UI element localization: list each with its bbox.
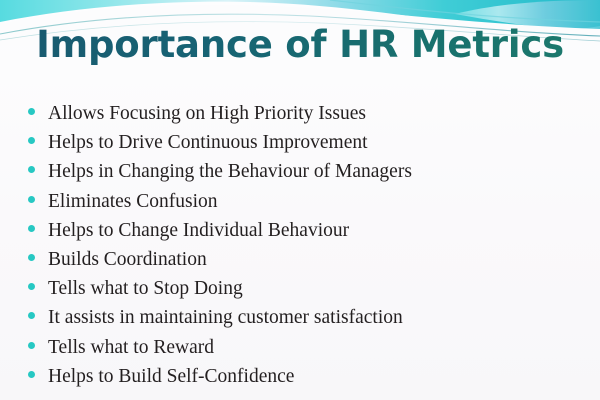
bullet-point-icon bbox=[28, 166, 35, 173]
bullet-point-icon bbox=[28, 108, 35, 115]
list-item-label: Eliminates Confusion bbox=[48, 192, 218, 212]
list-item: Helps to Build Self-Confidence bbox=[28, 367, 588, 396]
list-item-label: Helps to Build Self-Confidence bbox=[48, 367, 294, 387]
wave-contour-line-right bbox=[330, 0, 600, 22]
bullet-list: Allows Focusing on High Priority Issues … bbox=[28, 104, 588, 396]
list-item: Eliminates Confusion bbox=[28, 192, 588, 221]
list-item: Allows Focusing on High Priority Issues bbox=[28, 104, 588, 133]
presentation-slide: Importance of HR Metrics Allows Focusing… bbox=[0, 0, 600, 400]
bullet-point-icon bbox=[28, 283, 35, 290]
page-title: Importance of HR Metrics bbox=[0, 22, 600, 67]
list-item-label: It assists in maintaining customer satis… bbox=[48, 308, 403, 328]
list-item-label: Allows Focusing on High Priority Issues bbox=[48, 104, 366, 124]
list-item-label: Helps to Drive Continuous Improvement bbox=[48, 133, 368, 153]
list-item: Builds Coordination bbox=[28, 250, 588, 279]
bullet-point-icon bbox=[28, 137, 35, 144]
bullet-point-icon bbox=[28, 371, 35, 378]
list-item-label: Tells what to Reward bbox=[48, 338, 214, 358]
list-item: Helps to Drive Continuous Improvement bbox=[28, 133, 588, 162]
bullet-point-icon bbox=[28, 342, 35, 349]
bullet-point-icon bbox=[28, 225, 35, 232]
list-item-label: Builds Coordination bbox=[48, 250, 207, 270]
list-item: Helps to Change Individual Behaviour bbox=[28, 221, 588, 250]
bullet-point-icon bbox=[28, 312, 35, 319]
list-item-label: Helps to Change Individual Behaviour bbox=[48, 221, 349, 241]
list-item-label: Helps in Changing the Behaviour of Manag… bbox=[48, 162, 412, 182]
bullet-point-icon bbox=[28, 254, 35, 261]
list-item: Helps in Changing the Behaviour of Manag… bbox=[28, 162, 588, 191]
list-item: It assists in maintaining customer satis… bbox=[28, 308, 588, 337]
list-item: Tells what to Reward bbox=[28, 338, 588, 367]
list-item-label: Tells what to Stop Doing bbox=[48, 279, 243, 299]
title-area: Importance of HR Metrics bbox=[0, 22, 600, 67]
list-item: Tells what to Stop Doing bbox=[28, 279, 588, 308]
bullet-point-icon bbox=[28, 196, 35, 203]
